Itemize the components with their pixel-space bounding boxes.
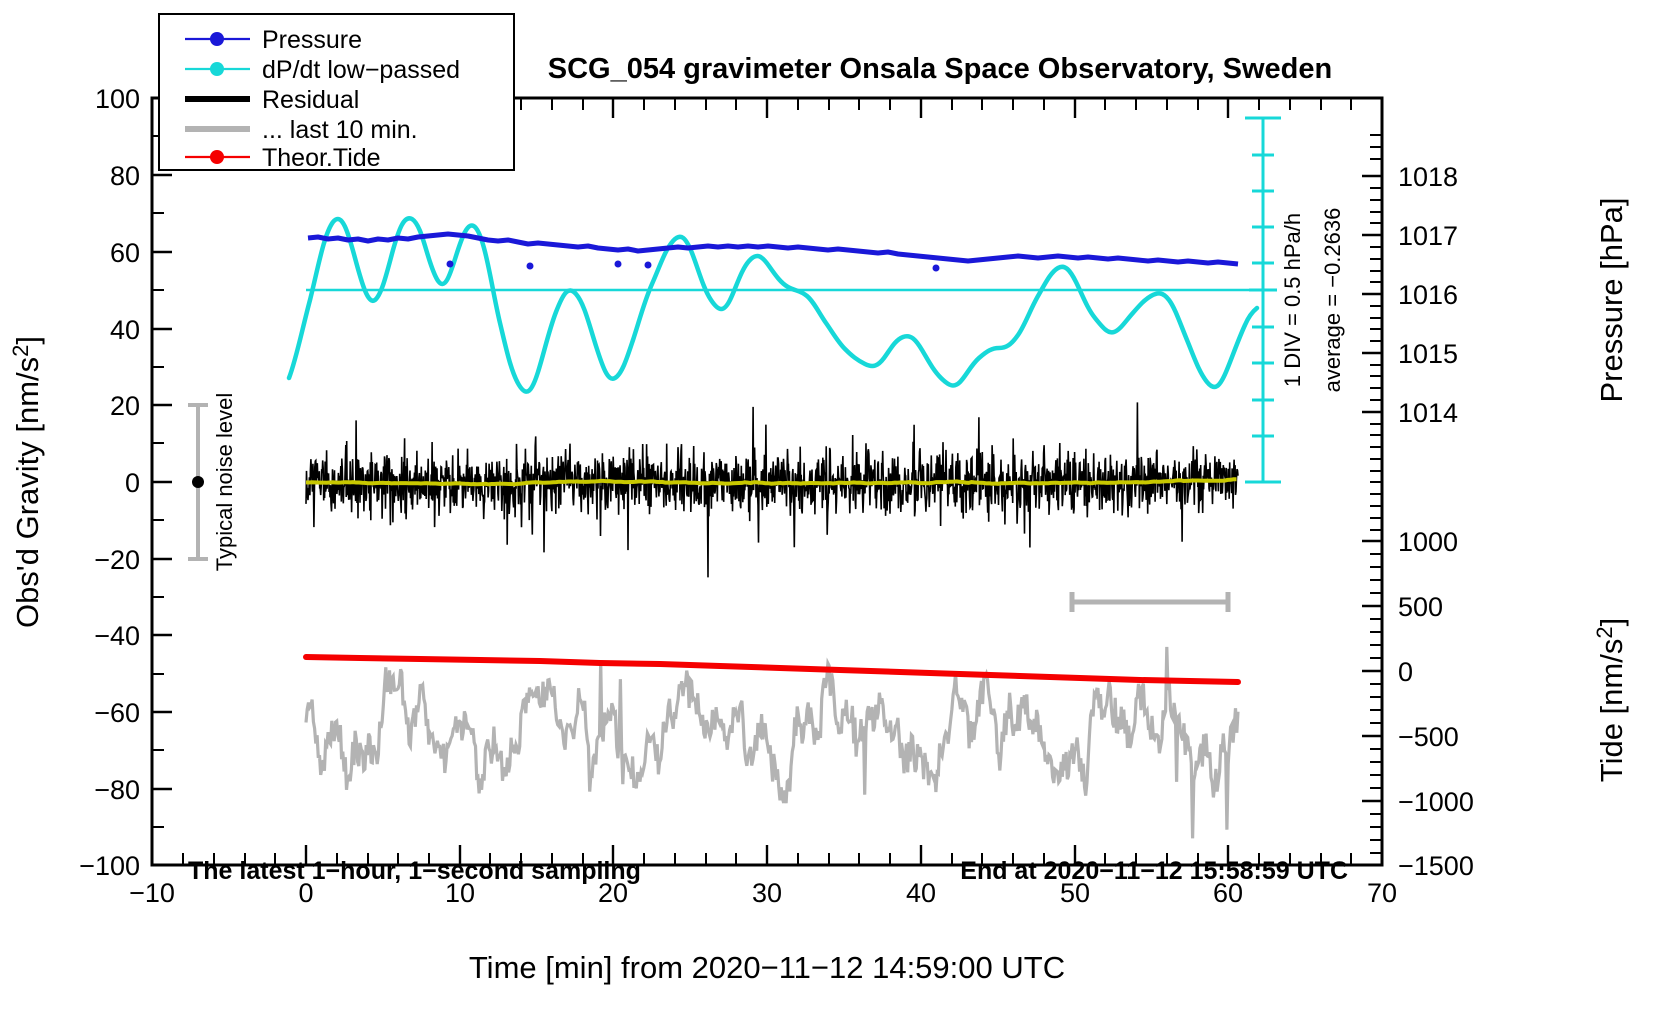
typical-noise-level-label: Typical noise level: [212, 393, 237, 572]
legend-label-pressure: Pressure: [262, 26, 362, 54]
y-left-tick-4: 20: [110, 391, 140, 421]
dpdt-average-label: average = −0.2636: [1320, 208, 1345, 393]
x-tick-0: −10: [129, 878, 175, 908]
y-right-pressure-tick-3: 1015: [1398, 339, 1458, 369]
legend-label-theortide: Theor.Tide: [262, 144, 381, 172]
footer-right-text: End at 2020−11−12 15:58:59 UTC: [960, 857, 1348, 885]
dpdt-div-label: 1 DIV = 0.5 hPa/h: [1280, 213, 1305, 387]
noise-center-dot: [192, 476, 204, 488]
y-left-tick-8: −60: [94, 698, 140, 728]
tide-title-main: Tide [nm/s: [1594, 639, 1629, 783]
chart-root: 100 80 60 40 20 0 −20 −40 −60 −80 −100 O…: [0, 0, 1660, 1020]
y-right-tide-tick-3: −500: [1398, 722, 1459, 752]
x-axis-title: Time [min] from 2020−11−12 14:59:00 UTC: [469, 950, 1065, 985]
y-left-tick-9: −80: [94, 775, 140, 805]
y-left-title-sup: 2: [8, 345, 33, 357]
y-right-pressure-tick-2: 1016: [1398, 280, 1458, 310]
tide-title-sup: 2: [1592, 626, 1617, 638]
footer-left-text: The latest 1−hour, 1−second sampling: [188, 857, 641, 885]
y-right-pressure-tick-4: 1014: [1398, 398, 1458, 428]
legend: Pressure dP/dt low−passed Residual ... l…: [159, 14, 514, 172]
y-right-pressure-tick-0: 1018: [1398, 162, 1458, 192]
y-left-tick-3: 40: [110, 315, 140, 345]
svg-text:1 DIV = 0.5 hPa/h: 1 DIV = 0.5 hPa/h: [1280, 213, 1305, 387]
plot-title: SCG_054 gravimeter Onsala Space Observat…: [548, 53, 1332, 85]
x-tick-5: 40: [906, 878, 936, 908]
x-tick-8: 70: [1367, 878, 1397, 908]
legend-marker-dpdt-icon: [210, 62, 224, 76]
svg-text:Pressure [hPa]: Pressure [hPa]: [1594, 197, 1629, 402]
y-left-tick-7: −40: [94, 621, 140, 651]
y-right-tide-title: Tide [nm/s2]: [1592, 618, 1629, 782]
legend-label-last10min: ... last 10 min.: [262, 116, 418, 144]
x-tick-4: 30: [752, 878, 782, 908]
y-left-tick-6: −20: [94, 545, 140, 575]
y-right-pressure-title: Pressure [hPa]: [1594, 197, 1629, 402]
y-left-title-close: ]: [10, 336, 45, 345]
legend-marker-pressure-icon: [210, 32, 224, 46]
svg-text:average = −0.2636: average = −0.2636: [1320, 208, 1345, 393]
legend-label-dpdt: dP/dt low−passed: [262, 56, 460, 84]
legend-label-residual: Residual: [262, 86, 359, 114]
legend-marker-theortide-icon: [210, 150, 224, 164]
svg-text:Typical noise level: Typical noise level: [212, 393, 237, 572]
y-left-tick-5: 0: [125, 468, 140, 498]
y-left-axis-title: Obs'd Gravity [nm/s2]: [8, 336, 45, 628]
y-right-tide-tick-4: −1000: [1398, 787, 1474, 817]
y-right-tide-tick-1: 500: [1398, 592, 1443, 622]
svg-text:Obs'd Gravity [nm/s2]: Obs'd Gravity [nm/s2]: [8, 336, 45, 628]
y-left-tick-1: 80: [110, 161, 140, 191]
y-left-title-main: Obs'd Gravity [nm/s: [10, 357, 45, 628]
y-right-tide-tick-2: 0: [1398, 657, 1413, 687]
y-left-tick-0: 100: [95, 84, 140, 114]
svg-text:Tide [nm/s2]: Tide [nm/s2]: [1592, 618, 1629, 782]
y-left-tick-2: 60: [110, 238, 140, 268]
tide-title-close: ]: [1594, 618, 1629, 627]
y-right-tide-tick-5: −1500: [1398, 851, 1474, 881]
y-right-pressure-tick-1: 1017: [1398, 221, 1458, 251]
y-right-tide-tick-0: 1000: [1398, 527, 1458, 557]
y-left-tick-10: −100: [79, 851, 140, 881]
